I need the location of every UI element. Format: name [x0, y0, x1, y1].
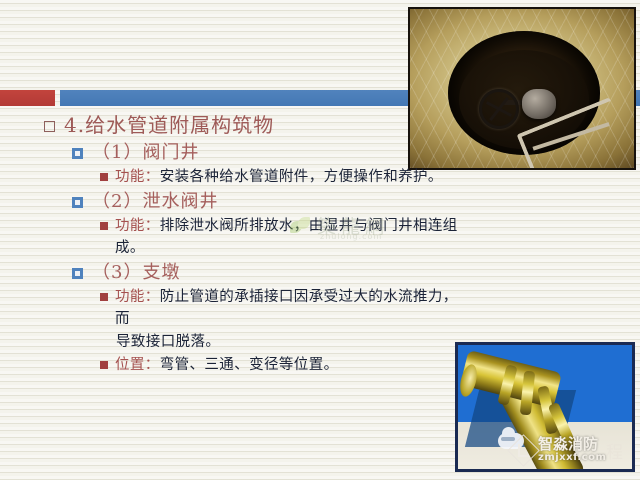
item-label: 功能： — [115, 169, 160, 185]
list-item: 功能：防止管道的承插接口因承受过大的水流推力，而 — [0, 286, 470, 330]
section-heading-1: （1）阀门井 — [0, 140, 470, 165]
list-item: 功能：安装各种给水管道附件，方便操作和养护。 — [0, 166, 470, 188]
red-square-bullet-icon — [100, 361, 108, 369]
page-title: 4.给水管道附属构筑物 — [0, 112, 470, 138]
item-text: 排除泄水阀所排放水，由湿井与阀门井相连组成。 — [115, 218, 458, 256]
slide-body: 4.给水管道附属构筑物 （1）阀门井 功能：安装各种给水管道附件，方便操作和养护… — [0, 112, 470, 377]
slide-canvas: 4.给水管道附属构筑物 （1）阀门井 功能：安装各种给水管道附件，方便操作和养护… — [0, 0, 640, 480]
pipe-bend-render — [455, 342, 635, 472]
item-continuation-text: 导致接口脱落。 — [116, 331, 220, 353]
valve-body — [522, 89, 556, 119]
section-heading-3: （3）支墩 — [0, 260, 470, 285]
blue-square-bullet-icon — [72, 268, 83, 279]
section-heading-2: （2）泄水阀井 — [0, 189, 470, 214]
page-title-text: 4.给水管道附属构筑物 — [64, 112, 274, 138]
hollow-square-bullet-icon — [44, 121, 55, 132]
red-square-bullet-icon — [100, 222, 108, 230]
header-accent-red-block — [0, 90, 55, 106]
list-item: 功能：排除泄水阀所排放水，由湿井与阀门井相连组成。 — [0, 215, 470, 259]
item-text: 弯管、三通、变径等位置。 — [160, 357, 339, 373]
section-heading-3-text: （3）支墩 — [92, 260, 180, 285]
blue-square-bullet-icon — [72, 197, 83, 208]
list-item-continuation: 导致接口脱落。 — [0, 331, 470, 353]
item-label: 功能： — [115, 218, 160, 234]
section-heading-2-text: （2）泄水阀井 — [92, 189, 218, 214]
valve-handwheel-icon — [479, 89, 519, 129]
blue-square-bullet-icon — [72, 148, 83, 159]
item-text: 安装各种给水管道附件，方便操作和养护。 — [160, 169, 443, 185]
item-label: 位置： — [115, 357, 160, 373]
item-text: 防止管道的承插接口因承受过大的水流推力，而 — [115, 289, 458, 327]
item-label: 功能： — [115, 289, 160, 305]
red-square-bullet-icon — [100, 173, 108, 181]
section-heading-1-text: （1）阀门井 — [92, 140, 199, 165]
red-square-bullet-icon — [100, 293, 108, 301]
list-item: 位置：弯管、三通、变径等位置。 — [0, 354, 470, 376]
